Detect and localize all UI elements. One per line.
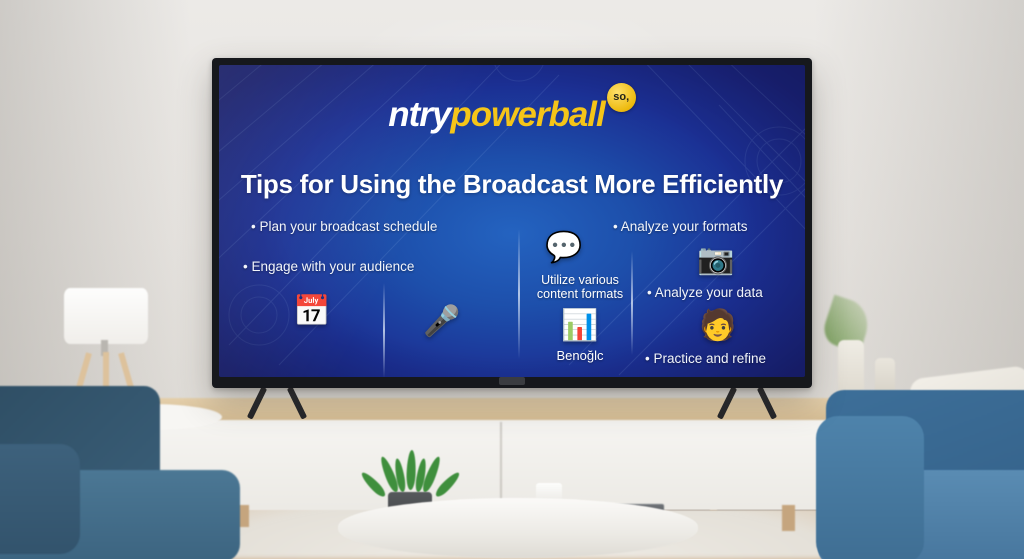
armchair-left-arm	[0, 444, 80, 554]
tv-stand-right	[722, 386, 776, 416]
tv-stand-left	[252, 386, 306, 416]
coffee-table	[338, 498, 698, 558]
console-leg-right	[782, 505, 795, 531]
screen-reflection	[219, 65, 805, 377]
ir-sensor	[499, 377, 525, 385]
sofa-arm	[816, 416, 924, 559]
wall-shadow-left	[0, 0, 190, 430]
tv-screen[interactable]: ntrypowerballso, Tips for Using the Broa…	[219, 65, 805, 377]
living-room-scene: ntrypowerballso, Tips for Using the Broa…	[0, 0, 1024, 559]
tv-console-cabinet	[148, 418, 893, 510]
television[interactable]: ntrypowerballso, Tips for Using the Broa…	[212, 58, 812, 388]
cabinet-door-seam	[500, 422, 502, 506]
lamp-shade	[64, 288, 148, 344]
